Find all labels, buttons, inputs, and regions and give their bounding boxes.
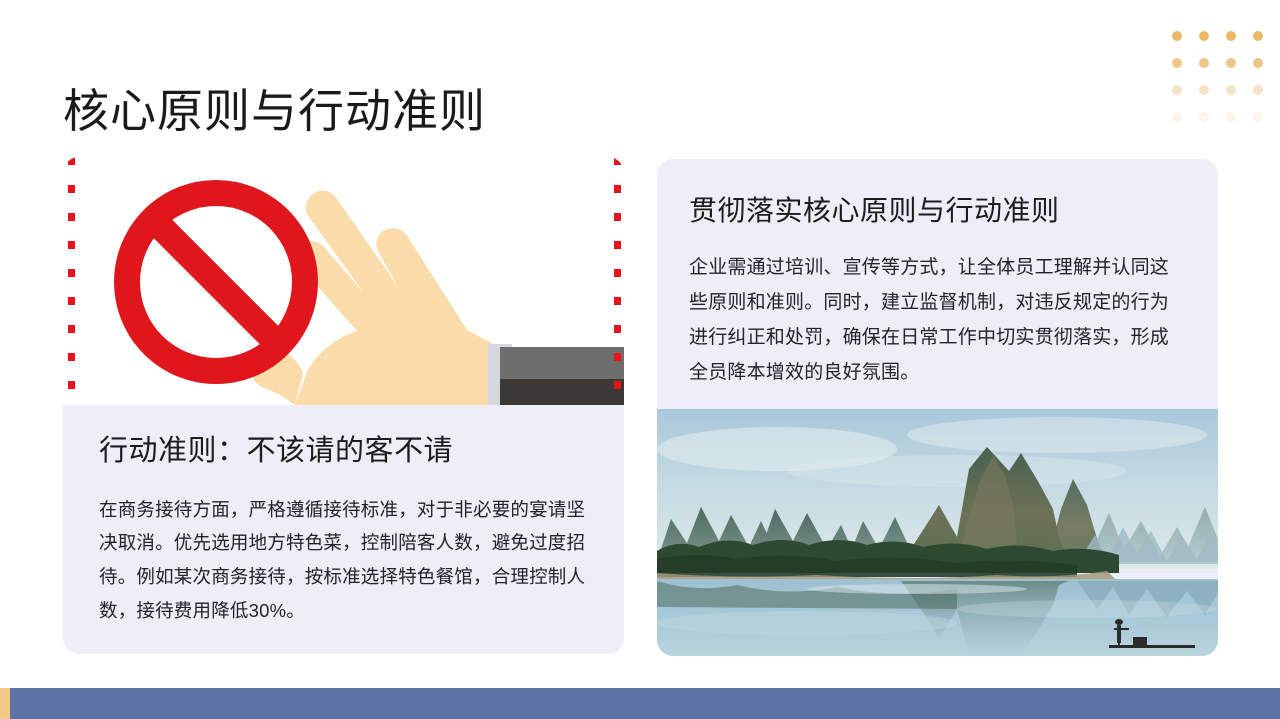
decorative-dot [1199, 112, 1209, 122]
left-card-text-block: 行动准则：不该请的客不请 在商务接待方面，严格遵循接待标准，对于非必要的宴请坚决… [63, 405, 624, 627]
left-content-card: 行动准则：不该请的客不请 在商务接待方面，严格遵循接待标准，对于非必要的宴请坚决… [63, 157, 624, 654]
dot-grid-cell [1163, 49, 1190, 76]
fisherman-hat [1115, 619, 1123, 625]
decorative-dot [1253, 31, 1263, 41]
decorative-dot [1253, 112, 1263, 122]
footer-bar-accent [0, 688, 10, 719]
dot-grid-cell [1217, 49, 1244, 76]
prohibition-hand-svg [63, 157, 624, 405]
dot-grid-cell [1163, 22, 1190, 49]
dot-grid-cell [1217, 103, 1244, 130]
dot-grid-cell [1244, 49, 1271, 76]
decorative-dot [1172, 31, 1182, 41]
decorative-dot [1253, 58, 1263, 68]
hand-shape [295, 191, 503, 405]
fisherman-body [1117, 625, 1121, 643]
right-content-card: 贯彻落实核心原则与行动准则 企业需通过培训、宣传等方式，让全体员工理解并认同这些… [657, 159, 1218, 656]
dot-grid-decoration [1163, 22, 1263, 122]
decorative-dot [1172, 112, 1182, 122]
dot-grid-cell [1244, 22, 1271, 49]
decorative-dot [1199, 58, 1209, 68]
dot-grid-cell [1244, 76, 1271, 103]
prohibition-hand-illustration [63, 157, 624, 405]
guilin-landscape-svg [657, 409, 1218, 656]
dot-grid-cell [1190, 76, 1217, 103]
decorative-dot [1172, 58, 1182, 68]
page-title: 核心原则与行动准则 [63, 83, 486, 141]
dashed-border-left [68, 157, 75, 405]
dot-grid-cell [1190, 22, 1217, 49]
dashed-border-right [614, 157, 621, 405]
right-card-body: 企业需通过培训、宣传等方式，让全体员工理解并认同这些原则和准则。同时，建立监督机… [689, 251, 1186, 391]
left-card-heading: 行动准则：不该请的客不请 [99, 433, 588, 471]
dot-grid-cell [1190, 49, 1217, 76]
decorative-dot [1226, 85, 1236, 95]
right-card-text-block: 贯彻落实核心原则与行动准则 企业需通过培训、宣传等方式，让全体员工理解并认同这些… [657, 159, 1218, 409]
slide-canvas: 核心原则与行动准则 行动准则：不该请的客不请 [0, 0, 1280, 719]
decorative-dot [1253, 85, 1263, 95]
left-card-body: 在商务接待方面，严格遵循接待标准，对于非必要的宴请坚决取消。优先选用地方特色菜，… [99, 493, 588, 628]
decorative-dot [1199, 85, 1209, 95]
footer-bar [0, 688, 1280, 719]
dot-grid-cell [1217, 76, 1244, 103]
cloud [787, 455, 1127, 487]
right-card-heading: 贯彻落实核心原则与行动准则 [689, 193, 1186, 229]
prohibition-slash [153, 219, 279, 345]
sleeve-upper [500, 347, 624, 379]
raft-basket [1133, 637, 1147, 646]
decorative-dot [1199, 31, 1209, 41]
dot-grid-cell [1190, 103, 1217, 130]
decorative-dot [1226, 58, 1236, 68]
decorative-dot [1172, 85, 1182, 95]
dot-grid-cell [1244, 103, 1271, 130]
raft [1109, 645, 1195, 648]
water-ripple [807, 584, 1027, 594]
decorative-dot [1226, 112, 1236, 122]
dot-grid-cell [1217, 22, 1244, 49]
dot-grid-cell [1163, 76, 1190, 103]
dot-grid-cell [1163, 103, 1190, 130]
decorative-dot [1226, 31, 1236, 41]
water-highlight [657, 611, 957, 635]
water-highlight [957, 600, 1217, 618]
cloud [907, 417, 1207, 453]
sleeve-lower [500, 379, 624, 405]
guilin-landscape-photo [657, 409, 1218, 656]
